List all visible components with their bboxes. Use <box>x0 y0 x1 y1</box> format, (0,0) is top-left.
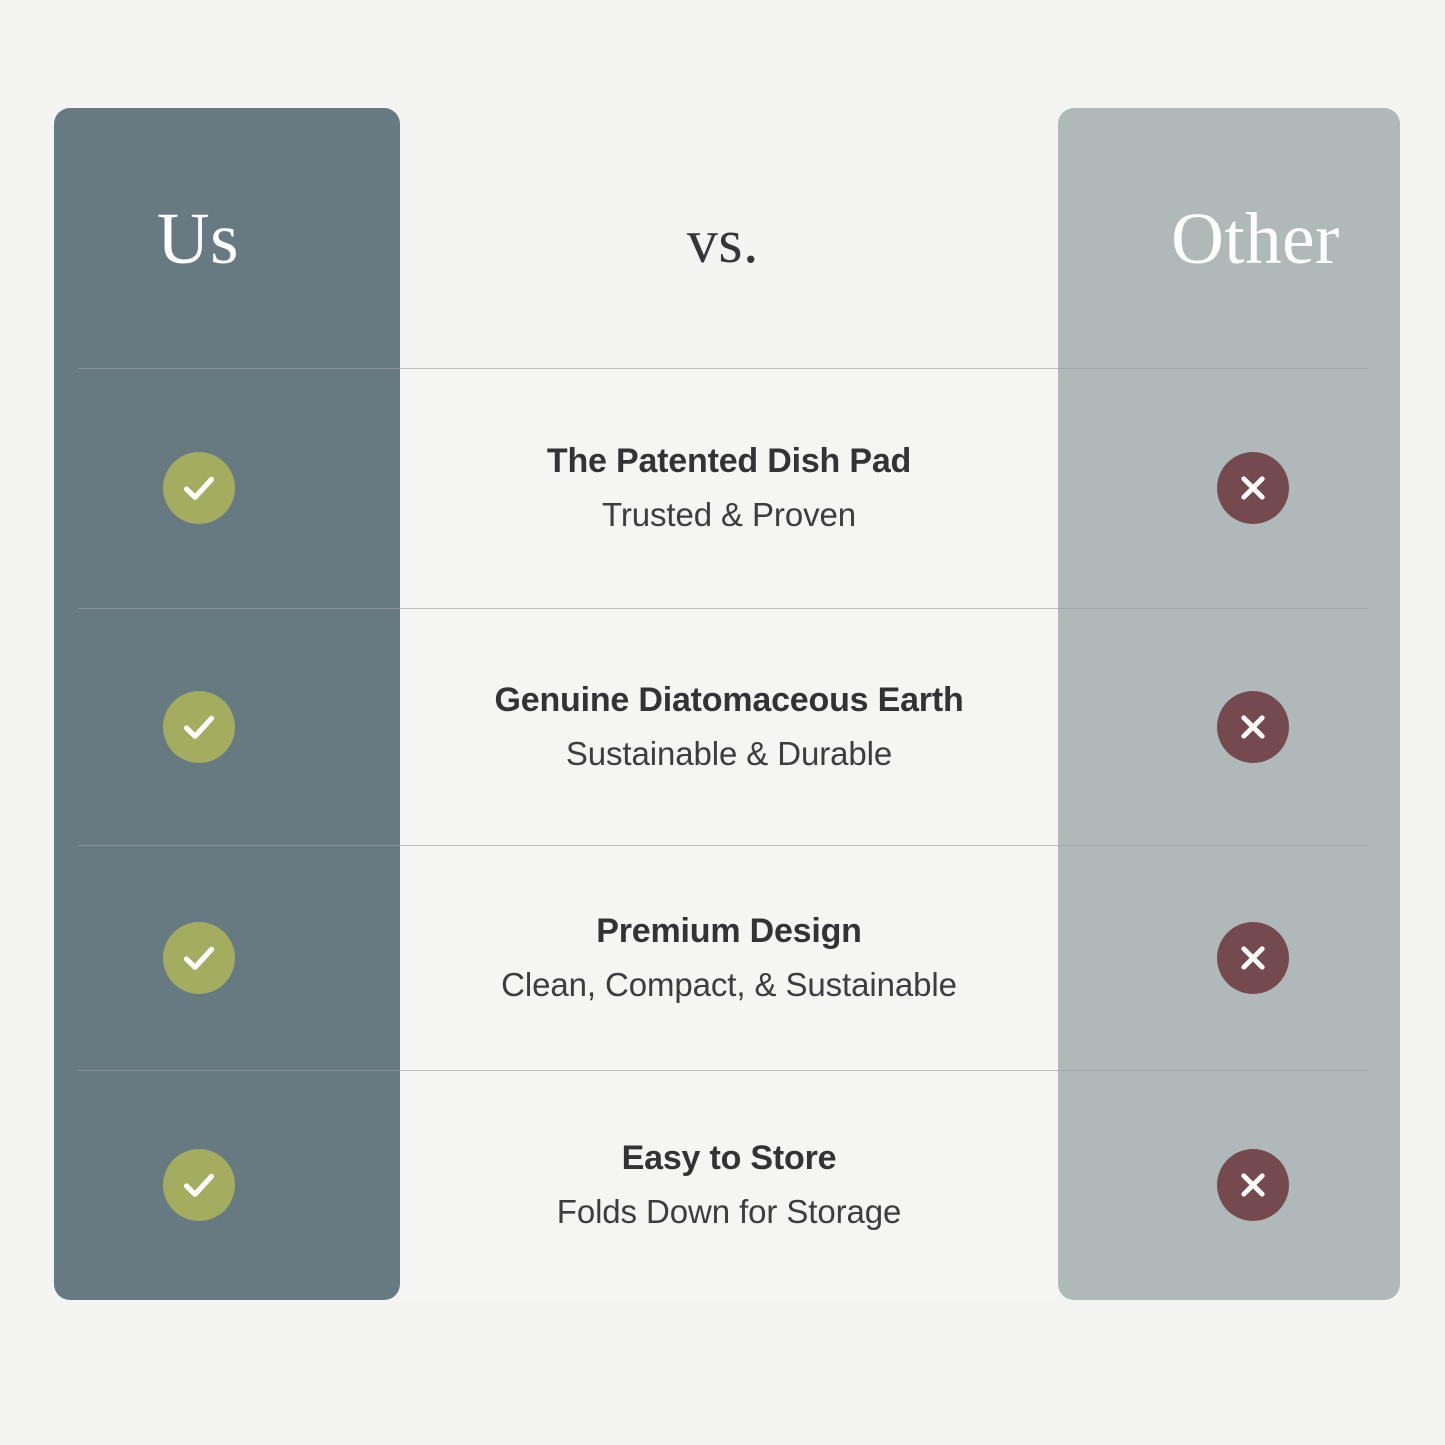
divider-3 <box>78 845 1368 846</box>
row-1-text-cell: The Patented Dish Pad Trusted & Proven <box>400 368 1058 608</box>
feature-subtitle: Sustainable & Durable <box>566 734 892 774</box>
feature-subtitle: Clean, Compact, & Sustainable <box>501 965 957 1005</box>
cross-icon <box>1217 1149 1289 1221</box>
row-4-text-cell: Easy to Store Folds Down for Storage <box>400 1070 1058 1300</box>
header-cell-vs: vs. <box>400 108 1058 368</box>
cross-icon <box>1217 691 1289 763</box>
row-4-other-cell <box>1058 1070 1445 1300</box>
feature-subtitle: Folds Down for Storage <box>557 1192 901 1232</box>
divider-2 <box>78 608 1368 609</box>
header-cell-other: Other <box>1058 108 1445 368</box>
row-2-text-cell: Genuine Diatomaceous Earth Sustainable &… <box>400 608 1058 845</box>
header-label-other: Other <box>1171 202 1340 275</box>
feature-title: The Patented Dish Pad <box>547 441 911 481</box>
table-row: Premium Design Clean, Compact, & Sustain… <box>0 845 1445 1070</box>
check-icon <box>163 452 235 524</box>
check-icon <box>163 922 235 994</box>
cross-icon <box>1217 452 1289 524</box>
row-3-text-cell: Premium Design Clean, Compact, & Sustain… <box>400 845 1058 1070</box>
row-1-us-cell <box>0 368 400 608</box>
feature-subtitle: Trusted & Proven <box>602 495 856 535</box>
feature-title: Premium Design <box>596 911 862 951</box>
divider-4 <box>78 1070 1368 1071</box>
cross-icon <box>1217 922 1289 994</box>
table-row: Genuine Diatomaceous Earth Sustainable &… <box>0 608 1445 845</box>
row-4-us-cell <box>0 1070 400 1300</box>
row-3-us-cell <box>0 845 400 1070</box>
row-2-us-cell <box>0 608 400 845</box>
row-2-other-cell <box>1058 608 1445 845</box>
feature-title: Easy to Store <box>622 1138 837 1178</box>
row-1-other-cell <box>1058 368 1445 608</box>
row-3-other-cell <box>1058 845 1445 1070</box>
header-label-vs: vs. <box>687 211 759 273</box>
table-row: The Patented Dish Pad Trusted & Proven <box>0 368 1445 608</box>
divider-1 <box>78 368 1368 369</box>
header-cell-us: Us <box>0 108 400 368</box>
feature-title: Genuine Diatomaceous Earth <box>494 680 963 720</box>
check-icon <box>163 1149 235 1221</box>
comparison-chart: Us vs. Other The Patented Dish Pad Trust… <box>0 0 1445 1445</box>
header-label-us: Us <box>157 202 239 275</box>
check-icon <box>163 691 235 763</box>
table-row: Easy to Store Folds Down for Storage <box>0 1070 1445 1300</box>
header-row: Us vs. Other <box>0 108 1445 368</box>
